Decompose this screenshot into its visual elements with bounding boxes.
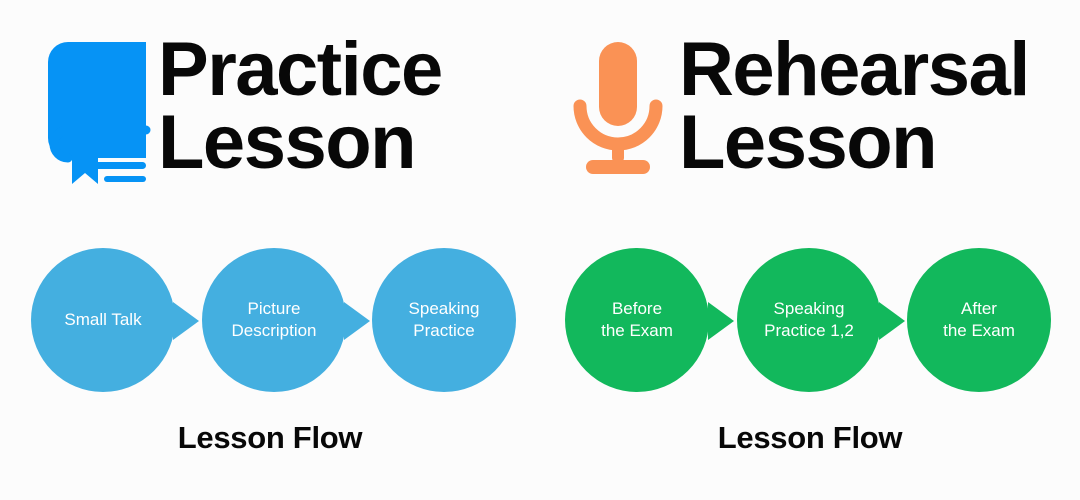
flow-node-speaking-practice-1-2[interactable]: Speaking Practice 1,2 xyxy=(737,248,881,392)
slide-canvas: Practice Lesson Small Talk Picture Descr… xyxy=(0,0,1080,500)
arrow-right-icon xyxy=(173,302,199,340)
arrow-right-icon xyxy=(344,302,370,340)
caption-rehearsal-lesson-flow: Lesson Flow xyxy=(540,420,1080,456)
flow-node-after-the-exam[interactable]: After the Exam xyxy=(907,248,1051,392)
flow-node-picture-description[interactable]: Picture Description xyxy=(202,248,346,392)
practice-header: Practice Lesson xyxy=(0,30,578,210)
book-icon xyxy=(38,30,158,190)
panel-practice-lesson: Practice Lesson Small Talk Picture Descr… xyxy=(0,0,540,500)
microphone-icon xyxy=(560,30,675,190)
flow-node-speaking-practice[interactable]: Speaking Practice xyxy=(372,248,516,392)
arrow-right-icon xyxy=(879,302,905,340)
panel-rehearsal-lesson: Rehearsal Lesson Before the Exam Speakin… xyxy=(540,0,1080,500)
flow-node-before-the-exam[interactable]: Before the Exam xyxy=(565,248,709,392)
rehearsal-header: Rehearsal Lesson xyxy=(540,30,1080,210)
arrow-right-icon xyxy=(708,302,734,340)
practice-lesson-flow: Small Talk Picture Description Speaking … xyxy=(0,248,540,398)
flow-node-small-talk[interactable]: Small Talk xyxy=(31,248,175,392)
page-title-practice: Practice Lesson xyxy=(158,30,442,180)
rehearsal-lesson-flow: Before the Exam Speaking Practice 1,2 Af… xyxy=(540,248,1080,398)
page-title-rehearsal: Rehearsal Lesson xyxy=(675,30,1029,180)
